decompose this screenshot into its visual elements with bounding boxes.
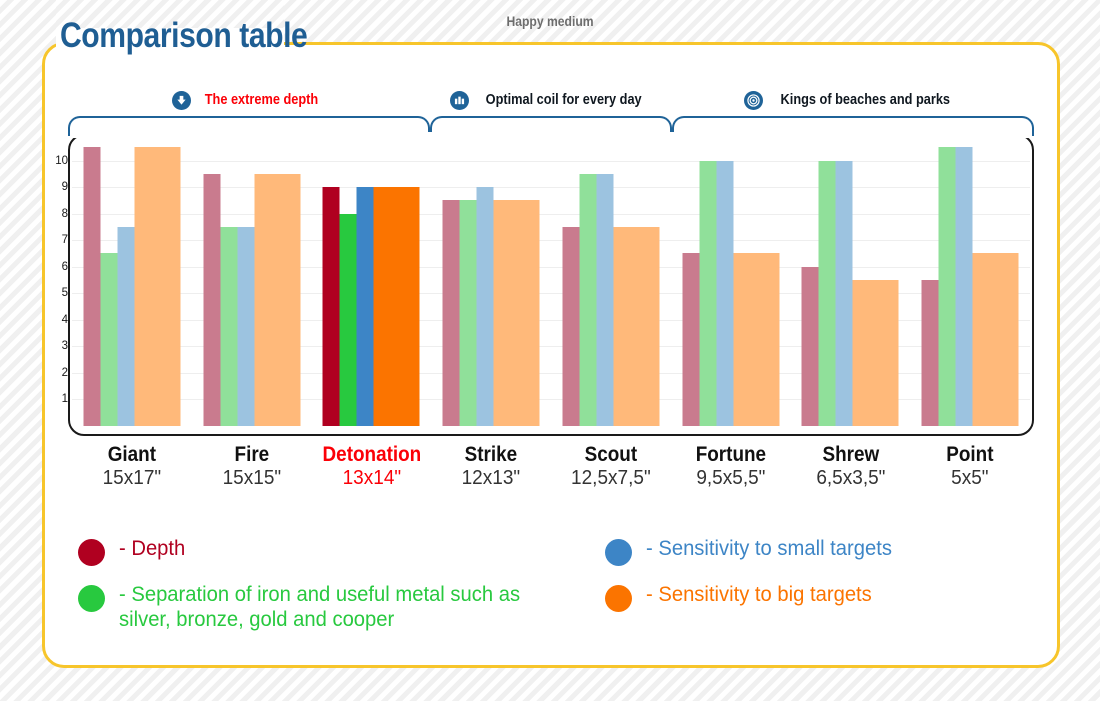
bars-layer xyxy=(72,134,1030,426)
legend-label: - Depth xyxy=(119,536,185,561)
bar-shrew-sensitivity xyxy=(853,280,899,426)
bar-detonation-separation xyxy=(340,214,357,426)
bar-fortune-sensitivity xyxy=(716,161,733,426)
legend-item: - Separation of iron and useful metal su… xyxy=(78,582,559,631)
bar-column-giant xyxy=(72,134,192,426)
bar-shrew-sensitivity xyxy=(836,161,853,426)
bar-column-scout xyxy=(551,134,671,426)
bar-point-sensitivity xyxy=(956,147,973,426)
detector-size: 9,5x5,5" xyxy=(674,466,788,491)
page-title: Comparison table xyxy=(60,16,307,56)
detector-size: 5x5" xyxy=(913,466,1027,491)
detector-name: Point xyxy=(916,444,1024,466)
chart-legend: - Depth- Separation of iron and useful m… xyxy=(78,536,1040,647)
x-label-point: Point5x5" xyxy=(910,444,1030,491)
x-label-giant: Giant15x17" xyxy=(72,444,192,491)
detector-name: Giant xyxy=(78,444,186,466)
bar-scout-depth xyxy=(562,227,579,426)
y-tick-label: 9 xyxy=(44,181,68,193)
group-1: The extreme depth xyxy=(68,88,430,136)
detector-size: 12,5x7,5" xyxy=(554,466,668,491)
detector-size: 13x14" xyxy=(314,466,428,491)
y-axis-ticks: 10987654321 xyxy=(44,134,68,426)
detector-name: Fire xyxy=(198,444,306,466)
bar-detonation-sensitivity xyxy=(374,187,420,426)
y-tick-label: 7 xyxy=(44,234,68,246)
y-tick-label: 3 xyxy=(44,340,68,352)
bar-column-point xyxy=(910,134,1030,426)
legend-item: - Depth xyxy=(78,536,559,566)
detector-name: Scout xyxy=(557,444,665,466)
detector-name: Shrew xyxy=(796,444,904,466)
bar-column-fortune xyxy=(671,134,791,426)
bar-scout-separation xyxy=(579,174,596,426)
x-label-fortune: Fortune9,5x5,5" xyxy=(671,444,791,491)
legend-label: - Separation of iron and useful metal su… xyxy=(119,582,533,631)
y-tick-label: 8 xyxy=(44,208,68,220)
group-2: Optimal coil for every day xyxy=(430,88,672,136)
bar-scout-sensitivity xyxy=(613,227,659,426)
detector-name: Fortune xyxy=(677,444,785,466)
group-label: Optimal coil for every day xyxy=(485,92,641,108)
legend-column-right: - Sensitivity to small targets- Sensitiv… xyxy=(559,536,1040,647)
x-label-scout: Scout12,5x7,5" xyxy=(551,444,671,491)
group-3: Kings of beaches and parks xyxy=(672,88,1034,136)
bar-scout-sensitivity xyxy=(596,174,613,426)
legend-item: - Sensitivity to small targets xyxy=(605,536,1040,566)
detector-name: Detonation xyxy=(317,444,425,466)
y-tick-label: 6 xyxy=(44,261,68,273)
detector-size: 6,5x3,5" xyxy=(793,466,907,491)
detector-size: 15x17" xyxy=(75,466,189,491)
y-tick-label: 4 xyxy=(44,314,68,326)
bar-detonation-depth xyxy=(323,187,340,426)
y-tick-label: 5 xyxy=(44,287,68,299)
bar-fortune-depth xyxy=(682,253,699,426)
legend-column-left: - Depth- Separation of iron and useful m… xyxy=(78,536,559,647)
group-label: The extreme depth xyxy=(205,92,318,108)
detector-size: 15x15" xyxy=(195,466,309,491)
bar-fire-separation xyxy=(220,227,237,426)
x-label-fire: Fire15x15" xyxy=(192,444,312,491)
bar-shrew-depth xyxy=(802,267,819,426)
bar-strike-sensitivity xyxy=(494,200,540,426)
bar-column-strike xyxy=(431,134,551,426)
x-axis-labels: Giant15x17"Fire15x15"Detonation13x14"Str… xyxy=(72,444,1030,491)
bar-detonation-sensitivity xyxy=(357,187,374,426)
bar-column-detonation xyxy=(312,134,432,426)
bar-strike-sensitivity xyxy=(477,187,494,426)
legend-label: - Sensitivity to small targets xyxy=(646,536,892,561)
detector-name: Strike xyxy=(437,444,545,466)
x-label-shrew: Shrew6,5x3,5" xyxy=(791,444,911,491)
bar-point-depth xyxy=(922,280,939,426)
y-tick-label: 1 xyxy=(44,393,68,405)
bar-fire-sensitivity xyxy=(254,174,300,426)
bar-fire-sensitivity xyxy=(237,227,254,426)
group-headers: The extreme depthOptimal coil for every … xyxy=(68,88,1034,136)
bar-giant-sensitivity xyxy=(134,147,180,426)
big-targets-dot xyxy=(605,585,632,612)
x-label-detonation: Detonation13x14" xyxy=(312,444,432,491)
legend-label: - Sensitivity to big targets xyxy=(646,582,872,607)
bar-giant-separation xyxy=(100,253,117,426)
depth-dot xyxy=(78,539,105,566)
bar-chart-circle-icon xyxy=(450,91,469,110)
group-label: Kings of beaches and parks xyxy=(781,92,950,108)
bar-column-fire xyxy=(192,134,312,426)
bar-column-shrew xyxy=(791,134,911,426)
down-arrow-circle-icon xyxy=(172,91,191,110)
bar-fire-depth xyxy=(203,174,220,426)
detector-size: 12x13" xyxy=(434,466,548,491)
bar-point-sensitivity xyxy=(973,253,1019,426)
target-circle-icon xyxy=(744,91,763,110)
x-label-strike: Strike12x13" xyxy=(431,444,551,491)
bar-giant-sensitivity xyxy=(117,227,134,426)
bar-strike-separation xyxy=(460,200,477,426)
legend-item: - Sensitivity to big targets xyxy=(605,582,1040,612)
bar-fortune-separation xyxy=(699,161,716,426)
bar-giant-depth xyxy=(83,147,100,426)
bar-strike-depth xyxy=(443,200,460,426)
y-tick-label: 2 xyxy=(44,367,68,379)
bar-point-separation xyxy=(939,147,956,426)
small-targets-dot xyxy=(605,539,632,566)
bar-fortune-sensitivity xyxy=(733,253,779,426)
separation-dot xyxy=(78,585,105,612)
bar-shrew-separation xyxy=(819,161,836,426)
y-tick-label: 10 xyxy=(44,155,68,167)
